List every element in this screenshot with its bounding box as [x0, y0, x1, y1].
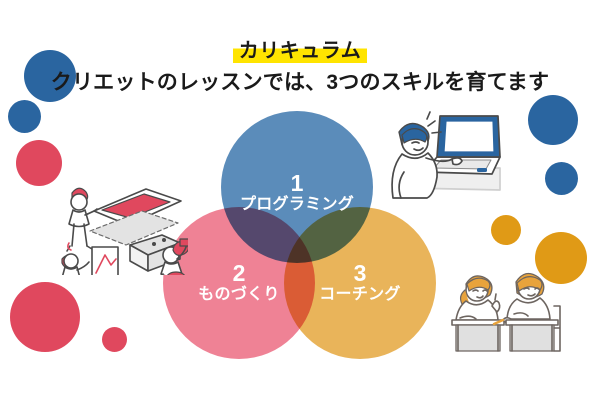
- illustration-crafting-people: [58, 155, 188, 275]
- illustration-coaching-students: [448, 258, 568, 358]
- illustration-person-with-laptop: [382, 102, 507, 207]
- curriculum-infographic: カリキュラム クリエットのレッスンでは、3つのスキルを育てます 1プログラミング…: [0, 0, 600, 400]
- venn-circle-coaching[interactable]: [284, 207, 436, 359]
